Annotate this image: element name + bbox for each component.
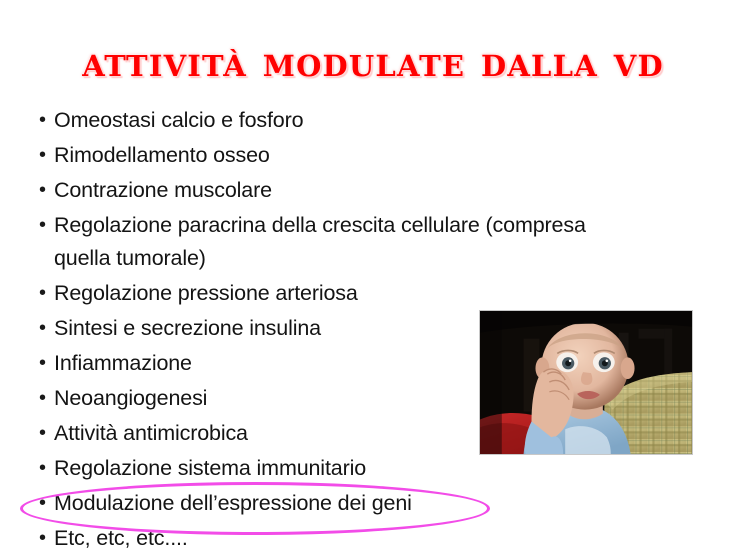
list-item: • Etc, etc, etc....	[28, 522, 668, 555]
list-item: • Regolazione sistema immunitario	[28, 452, 668, 485]
bullet-point-icon: •	[28, 104, 54, 137]
bullet-point-icon: •	[28, 209, 54, 242]
bullet-point-icon: •	[28, 382, 54, 415]
list-item: • Regolazione pressione arteriosa	[28, 277, 668, 310]
list-item-label: Omeostasi calcio e fosforo	[54, 104, 668, 137]
bullet-point-icon: •	[28, 277, 54, 310]
bullet-point-icon: •	[28, 452, 54, 485]
baby-photo	[479, 310, 693, 455]
list-item-label: Etc, etc, etc....	[54, 522, 668, 555]
list-item-label: Regolazione pressione arteriosa	[54, 277, 668, 310]
list-item-line-1: Regolazione paracrina della crescita cel…	[54, 213, 586, 237]
list-item: • Omeostasi calcio e fosforo	[28, 104, 668, 137]
bullet-point-icon: •	[28, 522, 54, 555]
bullet-point-icon: •	[28, 347, 54, 380]
page-title: Attività modulate dalla VD	[0, 38, 746, 86]
list-item-label: Regolazione sistema immunitario	[54, 452, 668, 485]
bullet-point-icon: •	[28, 174, 54, 207]
bullet-point-icon: •	[28, 417, 54, 450]
bullet-point-icon: •	[28, 139, 54, 172]
baby-photo-illustration	[480, 311, 692, 454]
slide-canvas: Attività modulate dalla VD • Omeostasi c…	[0, 0, 746, 560]
bullet-point-icon: •	[28, 312, 54, 345]
list-item: • Regolazione paracrina della crescita c…	[28, 209, 668, 275]
list-item: • Contrazione muscolare	[28, 174, 668, 207]
list-item-label: Modulazione dell’espressione dei geni	[54, 487, 668, 520]
list-item-highlighted: • Modulazione dell’espressione dei geni	[28, 487, 668, 520]
list-item-line-2: quella tumorale)	[54, 242, 654, 275]
bullet-point-icon: •	[28, 487, 54, 520]
list-item-label: Contrazione muscolare	[54, 174, 668, 207]
list-item: • Rimodellamento osseo	[28, 139, 668, 172]
list-item-label: Regolazione paracrina della crescita cel…	[54, 209, 654, 275]
list-item-label: Rimodellamento osseo	[54, 139, 668, 172]
